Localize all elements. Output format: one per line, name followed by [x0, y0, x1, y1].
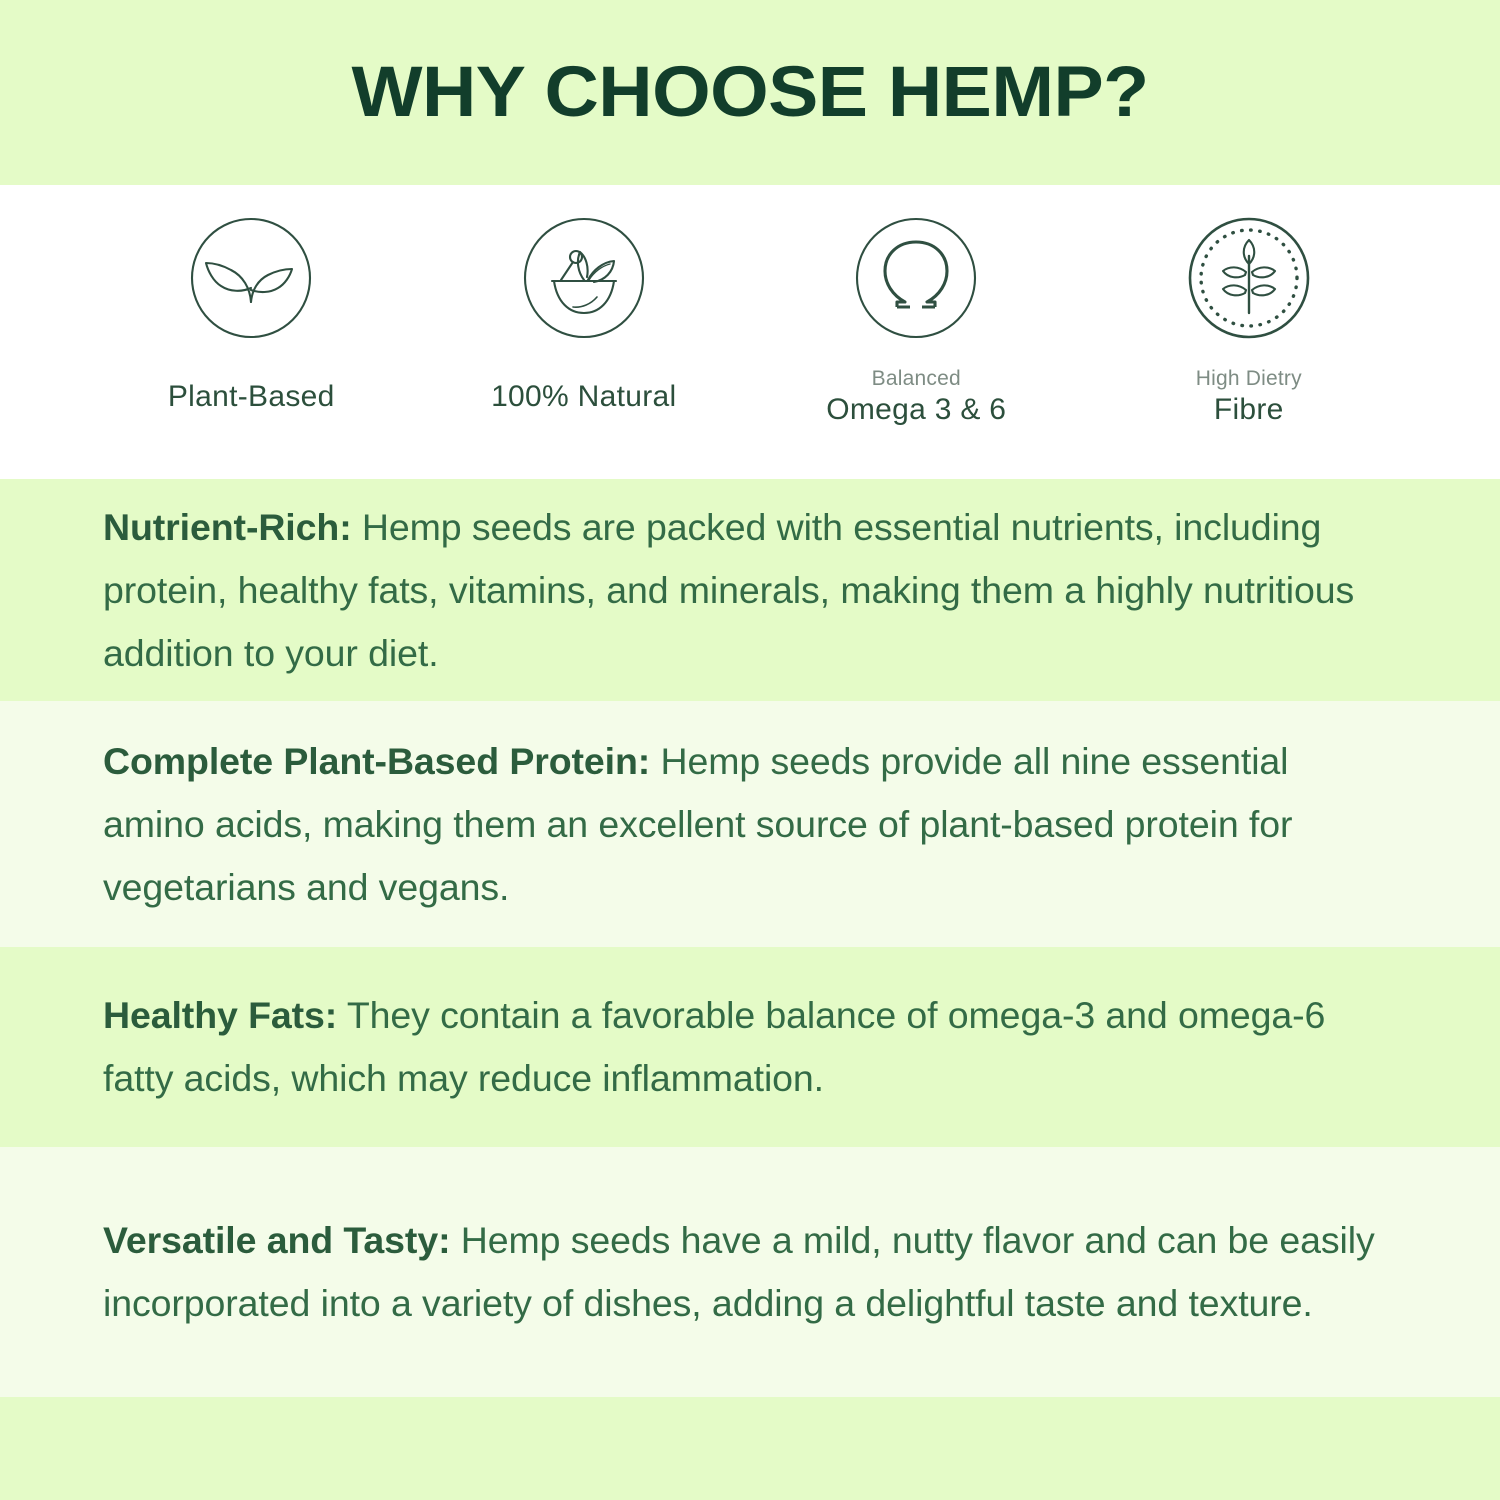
icon-label-group: Plant-Based: [168, 380, 335, 414]
feature-band-versatile-tasty: Versatile and Tasty: Hemp seeds have a m…: [0, 1147, 1500, 1397]
icon-cell-omega: Balanced Omega 3 & 6: [750, 185, 1083, 426]
feature-icons-strip: Plant-Based 100% Natural: [0, 185, 1500, 479]
icon-label-group: Balanced Omega 3 & 6: [826, 367, 1006, 426]
icon-cell-natural: 100% Natural: [418, 185, 751, 414]
icon-label-omega: Omega 3 & 6: [826, 393, 1006, 427]
icon-label-group: 100% Natural: [491, 380, 676, 414]
feature-text: Complete Plant-Based Protein: Hemp seeds…: [103, 730, 1390, 919]
icon-label-fibre-small: High Dietry: [1196, 367, 1302, 391]
feature-band-healthy-fats: Healthy Fats: They contain a favorable b…: [0, 947, 1500, 1147]
icon-label-group: High Dietry Fibre: [1196, 367, 1302, 426]
feature-text: Healthy Fats: They contain a favorable b…: [103, 984, 1390, 1110]
wheat-stalk-dotted-circle-icon: [1185, 214, 1313, 342]
feature-lead: Healthy Fats:: [103, 994, 337, 1036]
icon-label-fibre: Fibre: [1196, 393, 1302, 427]
omega-symbol-icon: [852, 214, 980, 342]
feature-lead: Versatile and Tasty:: [103, 1219, 450, 1261]
infographic-page: WHY CHOOSE HEMP? Plant-Based: [0, 0, 1500, 1500]
feature-lead: Nutrient-Rich:: [103, 506, 352, 548]
icon-label-omega-small: Balanced: [826, 367, 1006, 391]
header-band: WHY CHOOSE HEMP?: [0, 0, 1500, 185]
page-title: WHY CHOOSE HEMP?: [351, 57, 1148, 128]
icon-label-natural: 100% Natural: [491, 380, 676, 414]
icon-cell-fibre: High Dietry Fibre: [1083, 185, 1416, 426]
mortar-and-pestle-leaves-icon: [520, 214, 648, 342]
icon-cell-plant-based: Plant-Based: [85, 185, 418, 414]
footer-band: [0, 1397, 1500, 1500]
feature-lead: Complete Plant-Based Protein:: [103, 740, 650, 782]
two-leaves-icon: [187, 214, 315, 342]
feature-band-complete-protein: Complete Plant-Based Protein: Hemp seeds…: [0, 701, 1500, 947]
icon-label-plant-based: Plant-Based: [168, 380, 335, 414]
feature-text: Versatile and Tasty: Hemp seeds have a m…: [103, 1209, 1390, 1335]
feature-band-nutrient-rich: Nutrient-Rich: Hemp seeds are packed wit…: [0, 479, 1500, 701]
feature-text: Nutrient-Rich: Hemp seeds are packed wit…: [103, 496, 1390, 685]
